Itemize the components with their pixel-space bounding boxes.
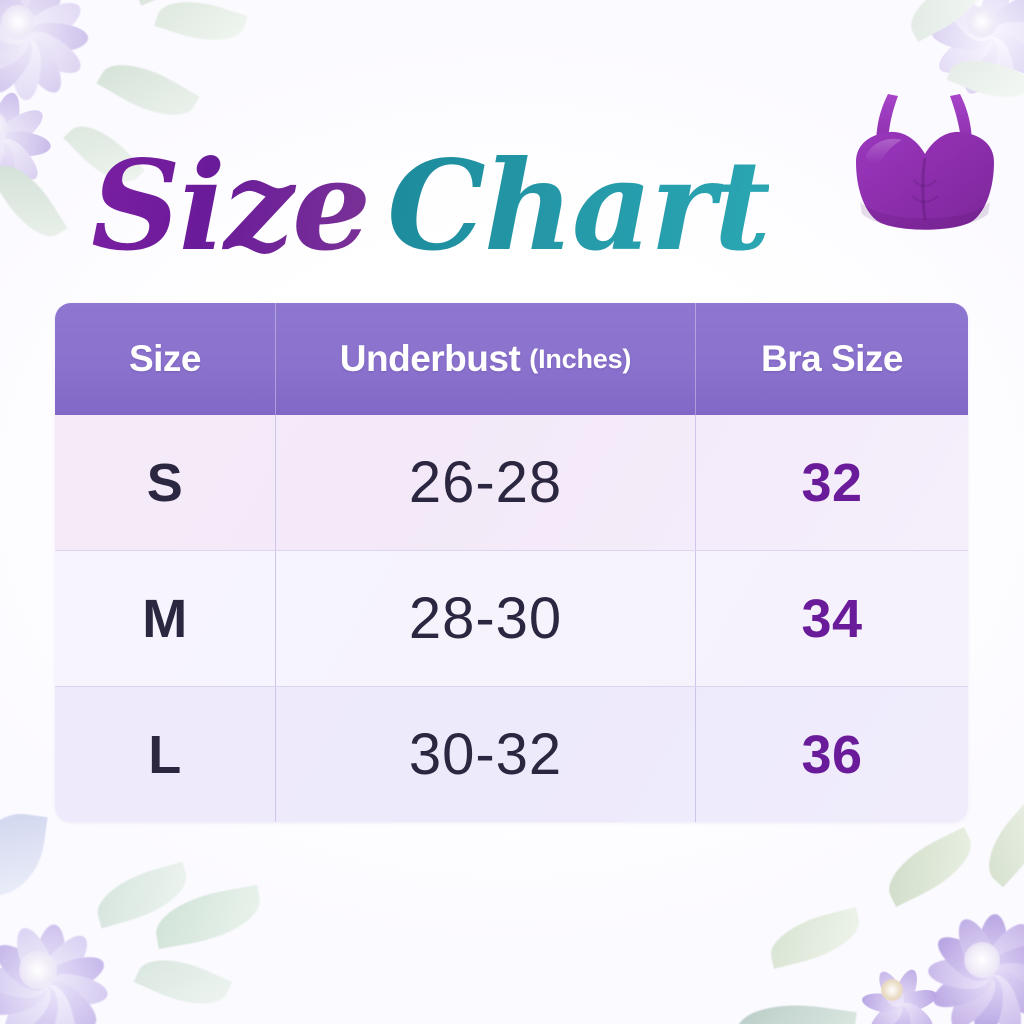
underbust-value: 28-30 xyxy=(409,585,562,652)
watercolor-floral-bottom-right xyxy=(750,794,1024,1024)
title-word-chart: Chart xyxy=(387,134,769,279)
size-value: M xyxy=(142,588,187,650)
page-title: SizeChart xyxy=(0,145,860,269)
watercolor-floral-bottom-left xyxy=(0,790,258,1024)
cell-size: M xyxy=(55,551,275,686)
cell-size: L xyxy=(55,687,275,822)
cell-size: S xyxy=(55,415,275,550)
column-header-underbust: Underbust (Inches) xyxy=(275,303,695,415)
column-header-bra-size-label: Bra Size xyxy=(761,338,903,380)
size-value: S xyxy=(147,452,184,514)
column-header-underbust-unit: (Inches) xyxy=(529,344,631,375)
underbust-value: 26-28 xyxy=(409,449,562,516)
title-word-size: Size xyxy=(91,134,387,279)
column-header-size-label: Size xyxy=(129,338,201,380)
column-header-underbust-label: Underbust xyxy=(340,338,521,380)
cell-underbust: 26-28 xyxy=(275,415,695,550)
table-header-row: Size Underbust (Inches) Bra Size xyxy=(55,303,968,415)
size-chart-table: Size Underbust (Inches) Bra Size S 26-28… xyxy=(55,303,968,822)
table-row: M 28-30 34 xyxy=(55,550,968,686)
cell-bra-size: 36 xyxy=(695,687,968,822)
underbust-value: 30-32 xyxy=(409,721,562,788)
column-header-size: Size xyxy=(55,303,275,415)
cell-bra-size: 34 xyxy=(695,551,968,686)
bra-size-value: 32 xyxy=(801,452,862,514)
table-row: L 30-32 36 xyxy=(55,686,968,822)
cell-underbust: 30-32 xyxy=(275,687,695,822)
bra-size-value: 36 xyxy=(801,724,862,786)
cell-underbust: 28-30 xyxy=(275,551,695,686)
bra-size-value: 34 xyxy=(801,588,862,650)
column-header-bra-size: Bra Size xyxy=(695,303,968,415)
cell-bra-size: 32 xyxy=(695,415,968,550)
size-value: L xyxy=(148,724,182,786)
bralette-illustration xyxy=(836,84,1014,244)
size-chart-poster: SizeChart xyxy=(0,0,1024,1024)
table-row: S 26-28 32 xyxy=(55,415,968,550)
